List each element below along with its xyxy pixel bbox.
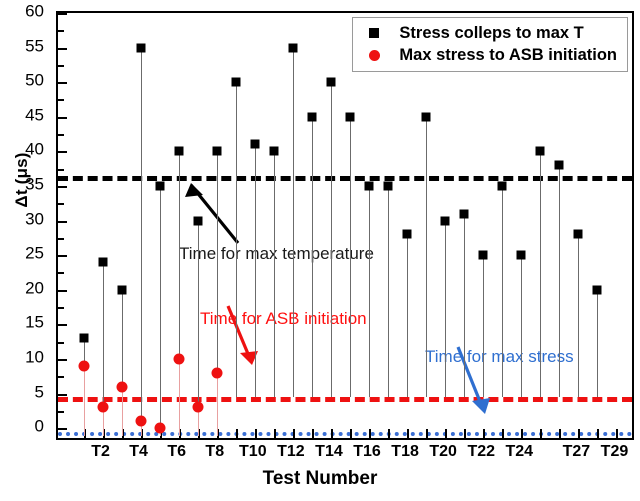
y-axis-tick (58, 186, 67, 188)
legend: Stress colleps to max T Max stress to AS… (352, 17, 628, 72)
x-axis-tick (350, 429, 352, 438)
data-point-circle[interactable] (173, 353, 184, 364)
data-stem-red (84, 366, 85, 437)
data-point-square[interactable] (326, 78, 335, 87)
legend-label: Stress colleps to max T (399, 24, 583, 43)
y-axis-tick (58, 151, 67, 153)
data-point-square[interactable] (307, 112, 316, 121)
data-point-square[interactable] (193, 216, 202, 225)
data-stem (217, 151, 218, 372)
x-axis-tick-label: T6 (167, 443, 186, 461)
y-axis-minor-tick (58, 238, 64, 240)
y-axis-tick-label: 0 (0, 418, 44, 435)
annotation-time-for-max-stress: Time for max stress (425, 347, 574, 367)
data-point-square[interactable] (479, 251, 488, 260)
y-axis-minor-tick (58, 203, 64, 205)
legend-item-stress-collapse: Stress colleps to max T (361, 22, 617, 44)
y-axis-tick-label: 30 (0, 210, 44, 227)
y-axis-tick (58, 324, 67, 326)
data-stem (426, 117, 427, 397)
x-axis-tick (331, 429, 333, 438)
legend-label: Max stress to ASB initiation (399, 46, 617, 65)
legend-item-max-stress-asb: Max stress to ASB initiation (361, 44, 617, 66)
y-axis-minor-tick (58, 65, 64, 67)
data-point-circle[interactable] (78, 360, 89, 371)
x-axis-tick (540, 429, 542, 438)
data-stem-red (217, 373, 218, 437)
data-stem (369, 186, 370, 397)
data-stem (540, 151, 541, 397)
data-stem (141, 48, 142, 422)
data-stem (198, 221, 199, 408)
data-point-circle[interactable] (192, 402, 203, 413)
data-stem (597, 290, 598, 397)
data-stem (559, 165, 560, 397)
x-axis-tick (407, 429, 409, 438)
data-stem (445, 221, 446, 397)
data-point-circle[interactable] (211, 367, 222, 378)
data-point-square[interactable] (441, 216, 450, 225)
data-stem (578, 234, 579, 397)
legend-circle-icon (361, 50, 387, 61)
x-axis-tick-label: T27 (563, 443, 591, 461)
data-point-square[interactable] (98, 258, 107, 267)
x-axis-tick (483, 429, 485, 438)
data-point-square[interactable] (288, 43, 297, 52)
chart-root: Δt (μs) Test Number Time for max tempera… (0, 0, 640, 501)
y-axis-tick-label: 15 (0, 314, 44, 331)
y-axis-tick (58, 359, 67, 361)
y-axis-minor-tick (58, 169, 64, 171)
reference-line-max-temperature (58, 176, 632, 181)
x-axis-tick-label: T12 (277, 443, 305, 461)
data-stem (179, 151, 180, 359)
data-stem-red (179, 359, 180, 436)
x-axis-tick-label: T20 (429, 443, 457, 461)
y-axis-tick-label: 20 (0, 279, 44, 296)
y-axis-tick-label: 55 (0, 37, 44, 54)
data-point-square[interactable] (212, 147, 221, 156)
data-point-square[interactable] (174, 147, 183, 156)
x-axis-tick (521, 429, 523, 438)
legend-square-icon (361, 28, 387, 38)
data-stem (483, 255, 484, 397)
data-stem (502, 186, 503, 397)
y-axis-tick-label: 50 (0, 72, 44, 89)
y-axis-tick (58, 82, 67, 84)
x-axis-tick (502, 429, 504, 438)
data-stem (312, 117, 313, 397)
data-point-square[interactable] (250, 140, 259, 149)
data-stem (350, 117, 351, 397)
x-axis-tick (236, 429, 238, 438)
data-point-circle[interactable] (97, 402, 108, 413)
y-axis-tick (58, 13, 67, 15)
data-point-circle[interactable] (154, 423, 165, 434)
x-axis-tick (274, 429, 276, 438)
y-axis-tick-label: 5 (0, 383, 44, 400)
data-stem (388, 186, 389, 397)
x-axis-tick (369, 429, 371, 438)
data-stem (521, 255, 522, 397)
y-axis-minor-tick (58, 342, 64, 344)
y-axis-tick (58, 221, 67, 223)
x-axis-tick-label: T2 (91, 443, 110, 461)
data-stem (160, 186, 161, 428)
x-axis-tick (464, 429, 466, 438)
y-axis-tick-label: 25 (0, 245, 44, 262)
data-stem (407, 234, 408, 397)
y-axis-minor-tick (58, 30, 64, 32)
annotation-time-for-max-temperature: Time for max temperature (179, 244, 374, 264)
data-stem (331, 82, 332, 397)
data-point-square[interactable] (155, 181, 164, 190)
data-stem (236, 82, 237, 397)
y-axis-tick-label: 60 (0, 3, 44, 20)
data-point-square[interactable] (365, 181, 374, 190)
annotation-time-for-asb-initiation: Time for ASB initiation (200, 309, 367, 329)
y-axis-tick-label: 10 (0, 348, 44, 365)
data-point-square[interactable] (593, 285, 602, 294)
x-axis-tick (388, 429, 390, 438)
reference-line-asb-initiation (58, 397, 632, 402)
x-axis-tick (616, 429, 618, 438)
data-point-square[interactable] (536, 147, 545, 156)
x-axis-tick (578, 429, 580, 438)
data-point-square[interactable] (555, 161, 564, 170)
x-axis-tick (445, 429, 447, 438)
y-axis-tick-label: 35 (0, 175, 44, 192)
data-point-square[interactable] (498, 181, 507, 190)
data-point-square[interactable] (517, 251, 526, 260)
y-axis-minor-tick (58, 272, 64, 274)
data-point-square[interactable] (117, 285, 126, 294)
x-axis-tick-label: T22 (467, 443, 495, 461)
data-point-square[interactable] (231, 78, 240, 87)
x-axis-tick-label: T10 (239, 443, 267, 461)
data-point-circle[interactable] (135, 416, 146, 427)
data-stem (122, 290, 123, 387)
y-axis-tick-label: 40 (0, 141, 44, 158)
data-point-square[interactable] (384, 181, 393, 190)
y-axis-tick (58, 48, 67, 50)
data-stem (293, 48, 294, 397)
x-axis-tick-label: T16 (353, 443, 381, 461)
y-axis-tick (58, 428, 67, 430)
data-stem (103, 262, 104, 407)
y-axis-tick (58, 117, 67, 119)
arrow-max-temperature (58, 13, 636, 442)
data-stem-red (122, 387, 123, 437)
data-point-circle[interactable] (116, 381, 127, 392)
data-point-square[interactable] (574, 230, 583, 239)
data-point-square[interactable] (422, 112, 431, 121)
x-axis-tick (426, 429, 428, 438)
y-axis-minor-tick (58, 134, 64, 136)
y-axis-tick (58, 255, 67, 257)
data-point-square[interactable] (136, 43, 145, 52)
x-axis-tick-label: T4 (129, 443, 148, 461)
y-axis-tick (58, 290, 67, 292)
x-axis-tick-label: T24 (506, 443, 534, 461)
data-point-square[interactable] (79, 334, 88, 343)
x-axis-tick (597, 429, 599, 438)
data-stem (464, 214, 465, 397)
y-axis-minor-tick (58, 99, 64, 101)
x-axis-tick-label: T29 (601, 443, 629, 461)
x-axis-tick (255, 429, 257, 438)
x-axis-tick (312, 429, 314, 438)
y-axis-tick (58, 394, 67, 396)
y-axis-minor-tick (58, 307, 64, 309)
data-point-square[interactable] (460, 209, 469, 218)
x-axis-title: Test Number (0, 468, 640, 490)
data-point-square[interactable] (269, 147, 278, 156)
x-axis-tick-label: T8 (205, 443, 224, 461)
data-point-square[interactable] (403, 230, 412, 239)
x-axis-tick (293, 429, 295, 438)
x-axis-tick-label: T18 (391, 443, 419, 461)
y-axis-minor-tick (58, 376, 64, 378)
data-stem (274, 151, 275, 397)
x-axis-tick (559, 429, 561, 438)
data-stem (255, 144, 256, 397)
y-axis-minor-tick (58, 411, 64, 413)
x-axis-tick-label: T14 (315, 443, 343, 461)
plot-area: Time for max temperature Time for ASB in… (56, 11, 634, 440)
data-point-square[interactable] (346, 112, 355, 121)
y-axis-tick-label: 45 (0, 106, 44, 123)
reference-line-max-stress (58, 432, 632, 436)
